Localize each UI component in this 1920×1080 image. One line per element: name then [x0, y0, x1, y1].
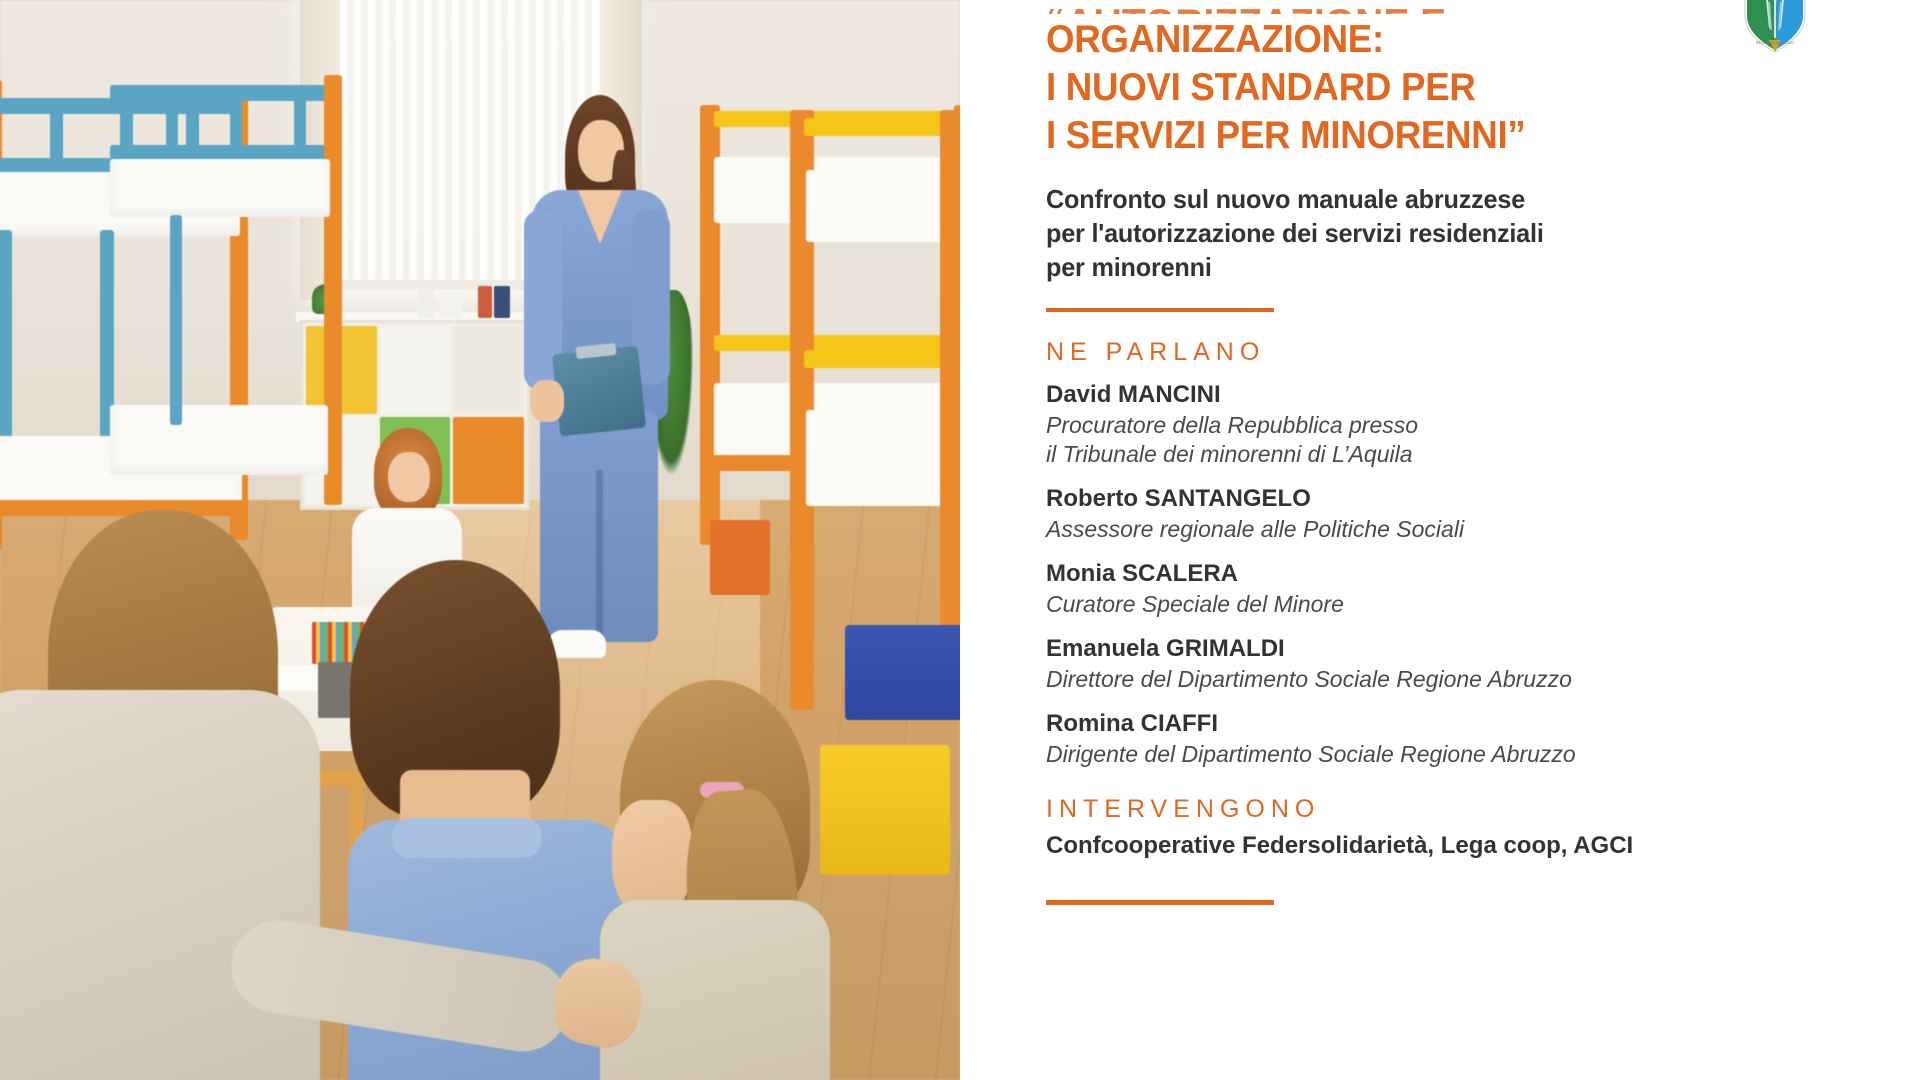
caregiver-leg-separation	[596, 470, 603, 642]
bunk-rail-vertical	[166, 85, 178, 159]
storage-bin-white-2	[453, 326, 524, 414]
speaker-name: Romina CIAFFI	[1046, 708, 1846, 740]
divider-rule-bottom	[1046, 900, 1274, 905]
pencil-cup	[318, 662, 354, 718]
bunk-mattress-lower	[806, 410, 960, 506]
shelf-book-dark	[494, 286, 510, 318]
contributors-text: Confcooperative Federsolidarietà, Lega c…	[1046, 830, 1846, 862]
childrens-residential-care-room-photo	[0, 0, 960, 1080]
list-item: Monia SCALERA Curatore Speciale del Mino…	[1046, 558, 1846, 619]
orange-storage-box	[710, 520, 770, 595]
bunk-rail	[804, 118, 960, 136]
contributors-section-label: INTERVENGONO	[1046, 795, 1846, 824]
speakers-list: David MANCINI Procuratore della Repubbli…	[1046, 379, 1846, 769]
list-item: Romina CIAFFI Dirigente del Dipartimento…	[1046, 708, 1846, 769]
foreground-woman-sweater	[0, 690, 320, 1080]
clipboard	[552, 346, 646, 437]
blue-storage-box	[845, 625, 960, 720]
bunk-rail-vertical	[294, 85, 306, 159]
caregiver-shoe	[548, 630, 606, 658]
page-title: ORGANIZZAZIONE: I NUOVI STANDARD PER I S…	[1046, 14, 1798, 160]
shelf-bottle	[418, 288, 434, 318]
bunk-rail	[804, 350, 960, 368]
bunk-mattress-lower	[110, 405, 328, 475]
bunk-mattress-upper	[110, 159, 330, 217]
page-subtitle: Confronto sul nuovo manuale abruzzese pe…	[1046, 182, 1822, 284]
speaker-name: Roberto SANTANGELO	[1046, 483, 1846, 515]
speaker-role: Assessore regionale alle Politiche Socia…	[1046, 515, 1846, 544]
footer-faint-text	[1046, 913, 1846, 935]
speaker-name: David MANCINI	[1046, 379, 1846, 411]
bunk-ladder-rail	[0, 230, 12, 460]
title-clipped-line: “AUTORIZZAZIONE E	[1046, 0, 1846, 14]
bunk-leg	[170, 215, 182, 425]
speaker-role: Curatore Speciale del Minore	[1046, 590, 1846, 619]
event-poster: REGIONE ABRUZZO “AUTORIZZAZIONE E ORGANI…	[0, 0, 1920, 1080]
speaker-name: Emanuela GRIMALDI	[1046, 633, 1846, 665]
bunk-rail-vertical	[50, 98, 63, 174]
divider-rule-top	[1046, 308, 1274, 312]
foreground-boy-collar	[392, 818, 542, 858]
yellow-storage-box	[820, 745, 950, 875]
speakers-section-label: NE PARLANO	[1046, 338, 1846, 367]
shelf-box-white	[440, 292, 462, 318]
shelf-book-blue	[478, 286, 492, 318]
poster-text-panel: REGIONE ABRUZZO “AUTORIZZAZIONE E ORGANI…	[960, 0, 1920, 1080]
speaker-name: Monia SCALERA	[1046, 558, 1846, 590]
list-item: Emanuela GRIMALDI Direttore del Dipartim…	[1046, 633, 1846, 694]
storage-bin-orange	[453, 417, 524, 505]
speaker-role: Procuratore della Repubblica presso il T…	[1046, 411, 1846, 469]
bunk-bed-right-front	[790, 110, 960, 710]
bunk-bed-left-back	[110, 75, 400, 535]
speaker-role: Direttore del Dipartimento Sociale Regio…	[1046, 665, 1846, 694]
poster-text-inner: REGIONE ABRUZZO “AUTORIZZAZIONE E ORGANI…	[1046, 0, 1846, 935]
speaker-role: Dirigente del Dipartimento Sociale Regio…	[1046, 740, 1846, 769]
caregiver-hand	[530, 380, 564, 422]
bunk-mattress-upper	[806, 170, 960, 242]
list-item: David MANCINI Procuratore della Repubbli…	[1046, 379, 1846, 469]
bunk-rail-vertical	[230, 85, 242, 159]
seated-child-face	[388, 452, 430, 502]
list-item: Roberto SANTANGELO Assessore regionale a…	[1046, 483, 1846, 544]
photo-scene	[0, 0, 960, 1080]
